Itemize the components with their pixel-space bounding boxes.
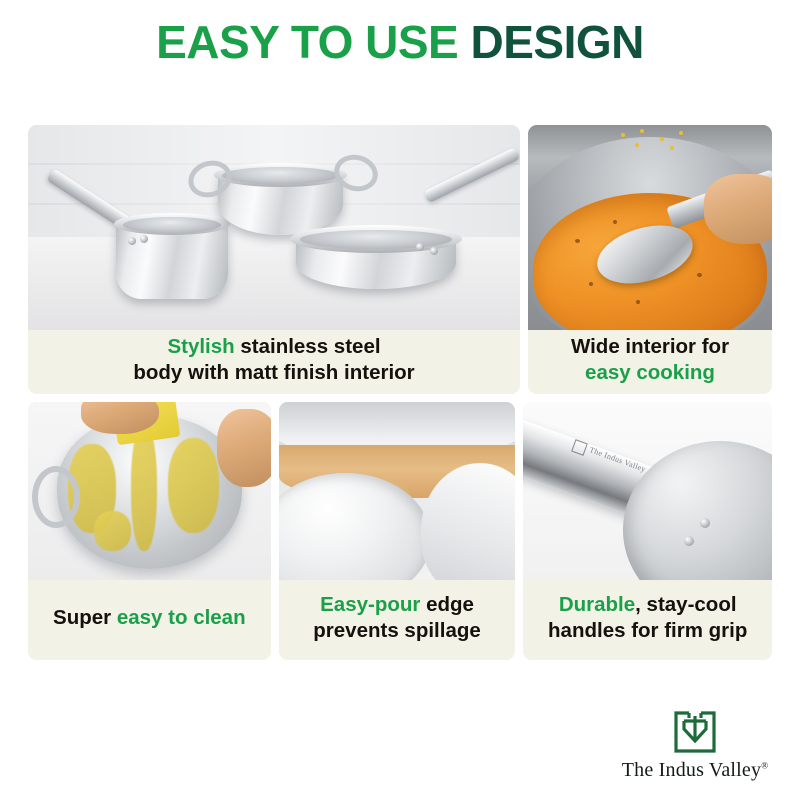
- caption-text: edge: [420, 593, 474, 616]
- frypan-rivet: [430, 247, 438, 255]
- caption-highlight: easy to clean: [117, 606, 246, 629]
- title-part-green: EASY TO USE: [156, 16, 458, 68]
- frypan-interior: [300, 230, 452, 249]
- photo-stylish-body: [28, 125, 520, 330]
- caption-text: , stay-cool: [635, 593, 736, 616]
- photo-easy-to-clean: [28, 402, 271, 580]
- mustard-seed: [670, 146, 674, 150]
- feature-row-top: Stylish stainless steel body with matt f…: [28, 125, 772, 394]
- caption-durable-handles: Durable, stay-cool handles for firm grip: [523, 580, 772, 660]
- caption-text-line2: body with matt finish interior: [133, 361, 414, 384]
- indus-valley-logo-icon: [672, 709, 718, 755]
- caption-easy-to-clean: Super easy to clean: [28, 580, 271, 660]
- feature-card-durable-handles: The Indus Valley Durable, stay-cool hand…: [523, 402, 772, 660]
- page-title: EASY TO USE DESIGN: [0, 14, 800, 70]
- trademark-symbol: ®: [761, 760, 768, 770]
- saucepan-rivet: [128, 237, 136, 245]
- kadai-loop-handle-left: [32, 466, 80, 528]
- title-part-dark: DESIGN: [458, 16, 644, 68]
- hand-holding-spoon: [704, 174, 772, 244]
- feature-card-easy-to-clean: Super easy to clean: [28, 402, 271, 660]
- saucepan-interior: [123, 217, 221, 233]
- feature-row-bottom: Super easy to clean: [28, 402, 772, 660]
- feature-card-wide-interior: Wide interior for easy cooking: [528, 125, 772, 394]
- handle-rivet: [684, 536, 694, 546]
- caption-text-line2: handles for firm grip: [548, 619, 747, 642]
- caption-highlight: Easy-pour: [320, 593, 420, 616]
- feature-card-easy-pour: Easy-pour edge prevents spillage: [279, 402, 516, 660]
- mustard-seed: [621, 133, 625, 137]
- caption-text: Super: [53, 606, 117, 629]
- caption-highlight: Durable: [559, 593, 635, 616]
- caption-wide-interior: Wide interior for easy cooking: [528, 330, 772, 394]
- caption-text-line2: prevents spillage: [313, 619, 480, 642]
- kadai-interior: [222, 167, 339, 184]
- caption-text: Wide interior for: [571, 335, 729, 358]
- saucepan-rivet: [140, 235, 148, 243]
- caption-easy-pour: Easy-pour edge prevents spillage: [279, 580, 516, 660]
- brand-wordmark: The Indus Valley®: [620, 759, 770, 782]
- caption-highlight: Stylish: [167, 335, 234, 358]
- photo-durable-handles: The Indus Valley: [523, 402, 772, 580]
- frypan-rivet: [416, 243, 424, 251]
- photo-easy-pour: [279, 402, 516, 580]
- brand-name: The Indus Valley: [622, 759, 761, 781]
- caption-text: stainless steel: [235, 335, 381, 358]
- feature-card-stylish-body: Stylish stainless steel body with matt f…: [28, 125, 520, 394]
- handle-rivet: [700, 518, 710, 528]
- caption-highlight: easy cooking: [585, 361, 715, 384]
- hand-holding-pan: [217, 409, 270, 487]
- caption-stylish-body: Stylish stainless steel body with matt f…: [28, 330, 520, 394]
- photo-wide-interior: [528, 125, 772, 330]
- infographic-page: EASY TO USE DESIGN: [0, 0, 800, 800]
- brand-logo: The Indus Valley®: [620, 709, 770, 782]
- feature-grid: Stylish stainless steel body with matt f…: [28, 125, 772, 660]
